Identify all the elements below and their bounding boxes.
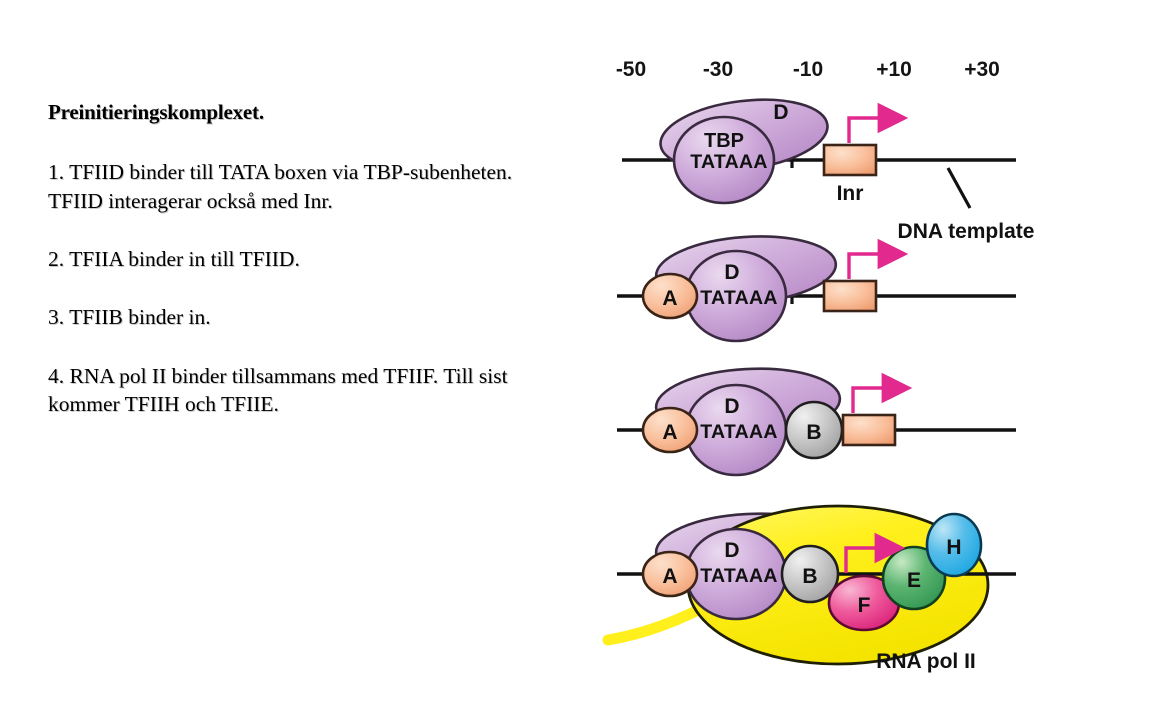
factor-label-a-panel-4: A <box>662 565 677 588</box>
inr-box-panel-2 <box>824 281 876 311</box>
rna-pol-ii-label: RNA pol II <box>876 650 976 673</box>
tata-box-label-panel-4: TATAAA <box>700 565 778 587</box>
inr-box-panel-3 <box>843 415 895 445</box>
inr-box-panel-1 <box>824 145 876 175</box>
factor-label-d-panel-1: D <box>773 101 788 124</box>
scale-tick--50: -50 <box>601 58 661 82</box>
diagram-canvas: .dnaline{stroke:#111;stroke-width:3.4;fi… <box>596 40 1066 690</box>
scale-tick-+10: +10 <box>864 58 924 82</box>
factor-label-b-panel-3: B <box>806 421 821 444</box>
step-paragraph-3: 3. TFIIB binder in. <box>48 303 548 331</box>
step-paragraph-1: 1. TFIID binder till TATA boxen via TBP-… <box>48 158 548 215</box>
transcription-start-arrow-panel-2 <box>849 254 881 279</box>
dna-template-label: DNA template <box>898 220 1035 243</box>
factor-label-d-panel-3: D <box>724 395 739 418</box>
inr-label-panel-1: Inr <box>837 182 864 205</box>
tata-box-label-panel-3: TATAAA <box>700 421 778 443</box>
tata-box-label-panel-2: TATAAA <box>700 287 778 309</box>
slide-text-column: Preinitieringskomplexet. 1. TFIID binder… <box>48 100 548 418</box>
factor-label-a-panel-3: A <box>662 421 677 444</box>
transcription-start-arrow-panel-3 <box>853 388 885 413</box>
factor-label-f-panel-4: F <box>858 594 871 617</box>
tbp-label-panel-1: TBP <box>704 130 744 152</box>
factor-label-a-panel-2: A <box>662 287 677 310</box>
page-title: Preinitieringskomplexet. <box>48 100 548 124</box>
factor-label-d-panel-4: D <box>724 539 739 562</box>
position-scale: -50 -30 -10 +10 +30 <box>596 58 1066 88</box>
panel-3-tfiib-binding: D A TATAAA B <box>617 364 1016 475</box>
tata-box-label-panel-1: TATAAA <box>690 151 768 173</box>
factor-label-e-panel-4: E <box>907 569 921 592</box>
step-paragraph-2: 2. TFIIA binder in till TFIID. <box>48 245 548 273</box>
step-paragraph-4: 4. RNA pol II binder tillsammans med TFI… <box>48 362 548 419</box>
factor-label-h-panel-4: H <box>946 536 961 559</box>
transcription-start-arrow-panel-1 <box>849 118 881 143</box>
dna-template-leader-line <box>948 168 970 208</box>
panel-1-tfiid-binding: D TBP TATAAA Inr DNA template <box>622 91 1034 243</box>
panel-4-holoenzyme-assembly: D A TATAAA B F E H RNA pol II <box>608 506 1016 673</box>
scale-tick--10: -10 <box>778 58 838 82</box>
preinitiation-complex-diagram: -50 -30 -10 +10 +30 <box>596 40 1066 690</box>
slide-root: Preinitieringskomplexet. 1. TFIID binder… <box>0 0 1154 724</box>
scale-tick--30: -30 <box>688 58 748 82</box>
factor-label-d-panel-2: D <box>724 261 739 284</box>
scale-tick-+30: +30 <box>952 58 1012 82</box>
factor-label-b-panel-4: B <box>802 565 817 588</box>
panel-2-tfiia-binding: D A TATAAA <box>617 231 1016 341</box>
